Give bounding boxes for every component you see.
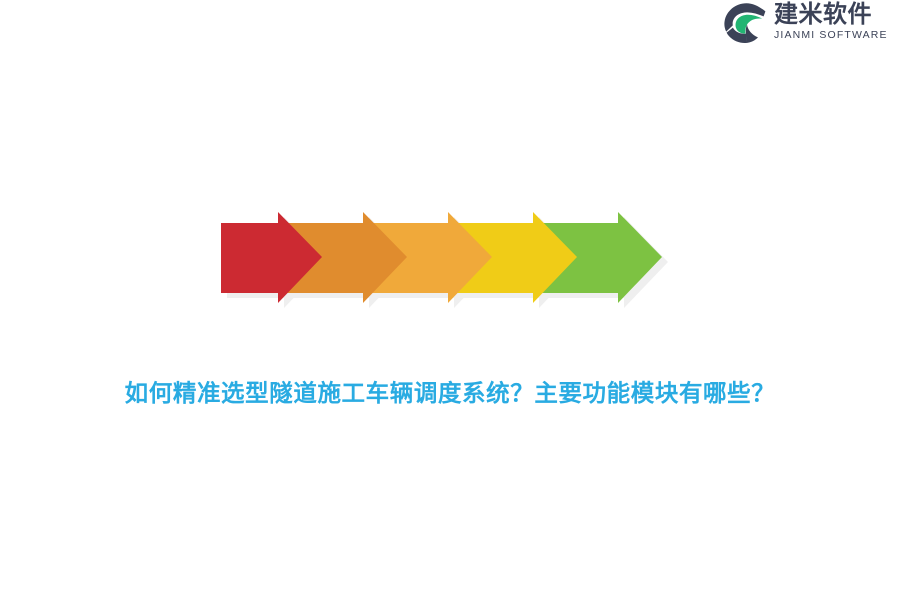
brand-logo: 建米软件 JIANMI SOFTWARE xyxy=(722,0,892,50)
brand-text-block: 建米软件 JIANMI SOFTWARE xyxy=(774,0,888,42)
brand-name-cn: 建米软件 xyxy=(774,1,888,28)
page-title: 如何精准选型隧道施工车辆调度系统？主要功能模块有哪些？ xyxy=(0,374,900,412)
page-root: 建米软件 JIANMI SOFTWARE xyxy=(0,0,900,600)
chevron-process-graphic xyxy=(210,205,700,325)
brand-name-en: JIANMI SOFTWARE xyxy=(774,29,888,42)
jianmi-hexagon-leaf-logo-icon xyxy=(722,0,768,46)
